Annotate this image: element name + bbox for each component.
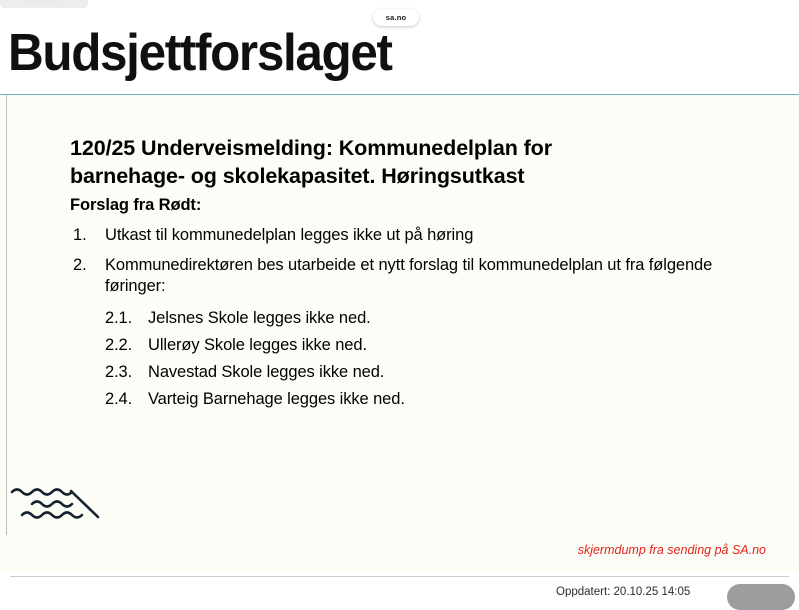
list-item-number: 2.	[73, 255, 97, 276]
ghost-category-chip[interactable]: Budsjett	[0, 0, 88, 8]
sa-no-badge-label: sa.no	[386, 13, 407, 22]
list-item: 2.3. Navestad Skole legges ikke ned.	[105, 359, 750, 386]
proposal-sublist: 2.1. Jelsnes Skole legges ikke ned. 2.2.…	[105, 305, 750, 412]
list-item: 2.4. Varteig Barnehage legges ikke ned.	[105, 386, 750, 413]
slide-left-border	[6, 95, 7, 535]
list-item: 2.2. Ullerøy Skole legges ikke ned.	[105, 332, 750, 359]
slide-title: 120/25 Underveismelding: Kommunedelplan …	[70, 135, 750, 190]
list-item-text: Kommunedirektøren bes utarbeide et nytt …	[105, 256, 712, 295]
list-item: 2. Kommunedirektøren bes utarbeide et ny…	[70, 255, 750, 412]
ghost-category-chip-label: Budsjett	[25, 0, 63, 3]
proposal-list: 1. Utkast til kommunedelplan legges ikke…	[70, 225, 750, 412]
slide-title-line-2: barnehage- og skolekapasitet. Høringsutk…	[70, 163, 750, 191]
updated-timestamp: Oppdatert: 20.10.25 14:05	[556, 586, 690, 597]
list-item-number: 2.1.	[105, 305, 145, 332]
list-item-text: Ullerøy Skole legges ikke ned.	[148, 336, 367, 354]
list-item: 1. Utkast til kommunedelplan legges ikke…	[70, 225, 750, 246]
list-item-text: Jelsnes Skole legges ikke ned.	[148, 309, 371, 327]
slide-title-line-1: 120/25 Underveismelding: Kommunedelplan …	[70, 136, 552, 160]
footer-divider	[10, 576, 789, 577]
slide-subtitle: Forslag fra Rødt:	[70, 196, 750, 215]
slide-content: 120/25 Underveismelding: Kommunedelplan …	[70, 135, 750, 421]
wave-logo	[10, 482, 104, 530]
list-item-text: Navestad Skole legges ikke ned.	[148, 363, 384, 381]
list-item-number: 2.4.	[105, 386, 145, 413]
screenshot-caption: skjermdump fra sending på SA.no	[578, 543, 766, 557]
list-item-number: 2.3.	[105, 359, 145, 386]
footer-action-button[interactable]	[727, 584, 795, 610]
page-title: Budsjettforslaget	[8, 27, 392, 79]
article-header: Budsjett sa.no Budsjettforslaget	[0, 0, 799, 95]
list-item: 2.1. Jelsnes Skole legges ikke ned.	[105, 305, 750, 332]
list-item-number: 1.	[73, 225, 97, 246]
list-item-number: 2.2.	[105, 332, 145, 359]
list-item-text: Varteig Barnehage legges ikke ned.	[148, 390, 405, 408]
list-item-text: Utkast til kommunedelplan legges ikke ut…	[105, 226, 473, 244]
